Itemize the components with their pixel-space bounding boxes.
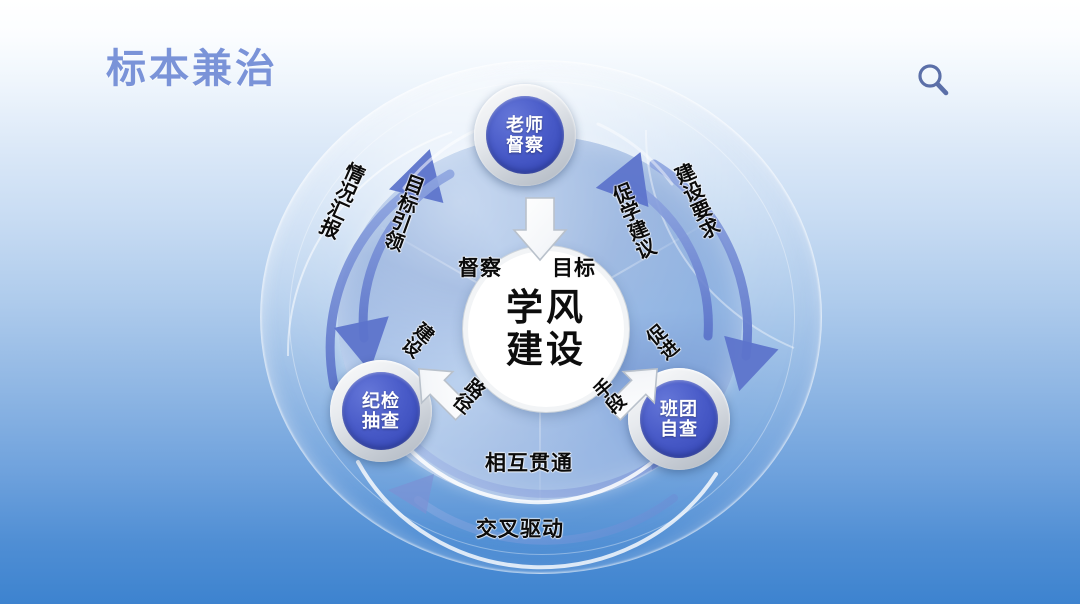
label-goal: 目标 (552, 252, 596, 282)
page-title: 标本兼治 (106, 36, 278, 94)
label-supervision: 督察 (458, 252, 502, 282)
node-core: 纪检 抽查 (342, 372, 420, 450)
search-button[interactable] (905, 52, 961, 108)
center-label-line-1: 学风 (506, 287, 586, 329)
node-core: 老师 督察 (486, 96, 564, 174)
node-class-self-check[interactable]: 班团 自查 (628, 368, 730, 470)
search-icon (913, 60, 953, 100)
node-label-line-2: 抽查 (362, 411, 400, 431)
slide-canvas: 标本兼治 (0, 0, 1080, 604)
node-label-line-1: 老师 (506, 115, 544, 135)
center-label-line-2: 建设 (506, 329, 586, 371)
node-label-line-1: 班团 (660, 399, 698, 419)
node-discipline-inspection[interactable]: 纪检 抽查 (330, 360, 432, 462)
node-label-line-2: 督察 (506, 135, 544, 155)
node-teacher-supervision[interactable]: 老师 督察 (474, 84, 576, 186)
node-label-line-2: 自查 (660, 419, 698, 439)
label-cross-drive: 交叉驱动 (476, 513, 564, 543)
label-mutual-link: 相互贯通 (485, 447, 573, 477)
node-core: 班团 自查 (640, 380, 718, 458)
node-label-line-1: 纪检 (362, 391, 400, 411)
cycle-diagram: 老师 督察 纪检 抽查 班团 自查 学风 建设 (254, 56, 826, 576)
